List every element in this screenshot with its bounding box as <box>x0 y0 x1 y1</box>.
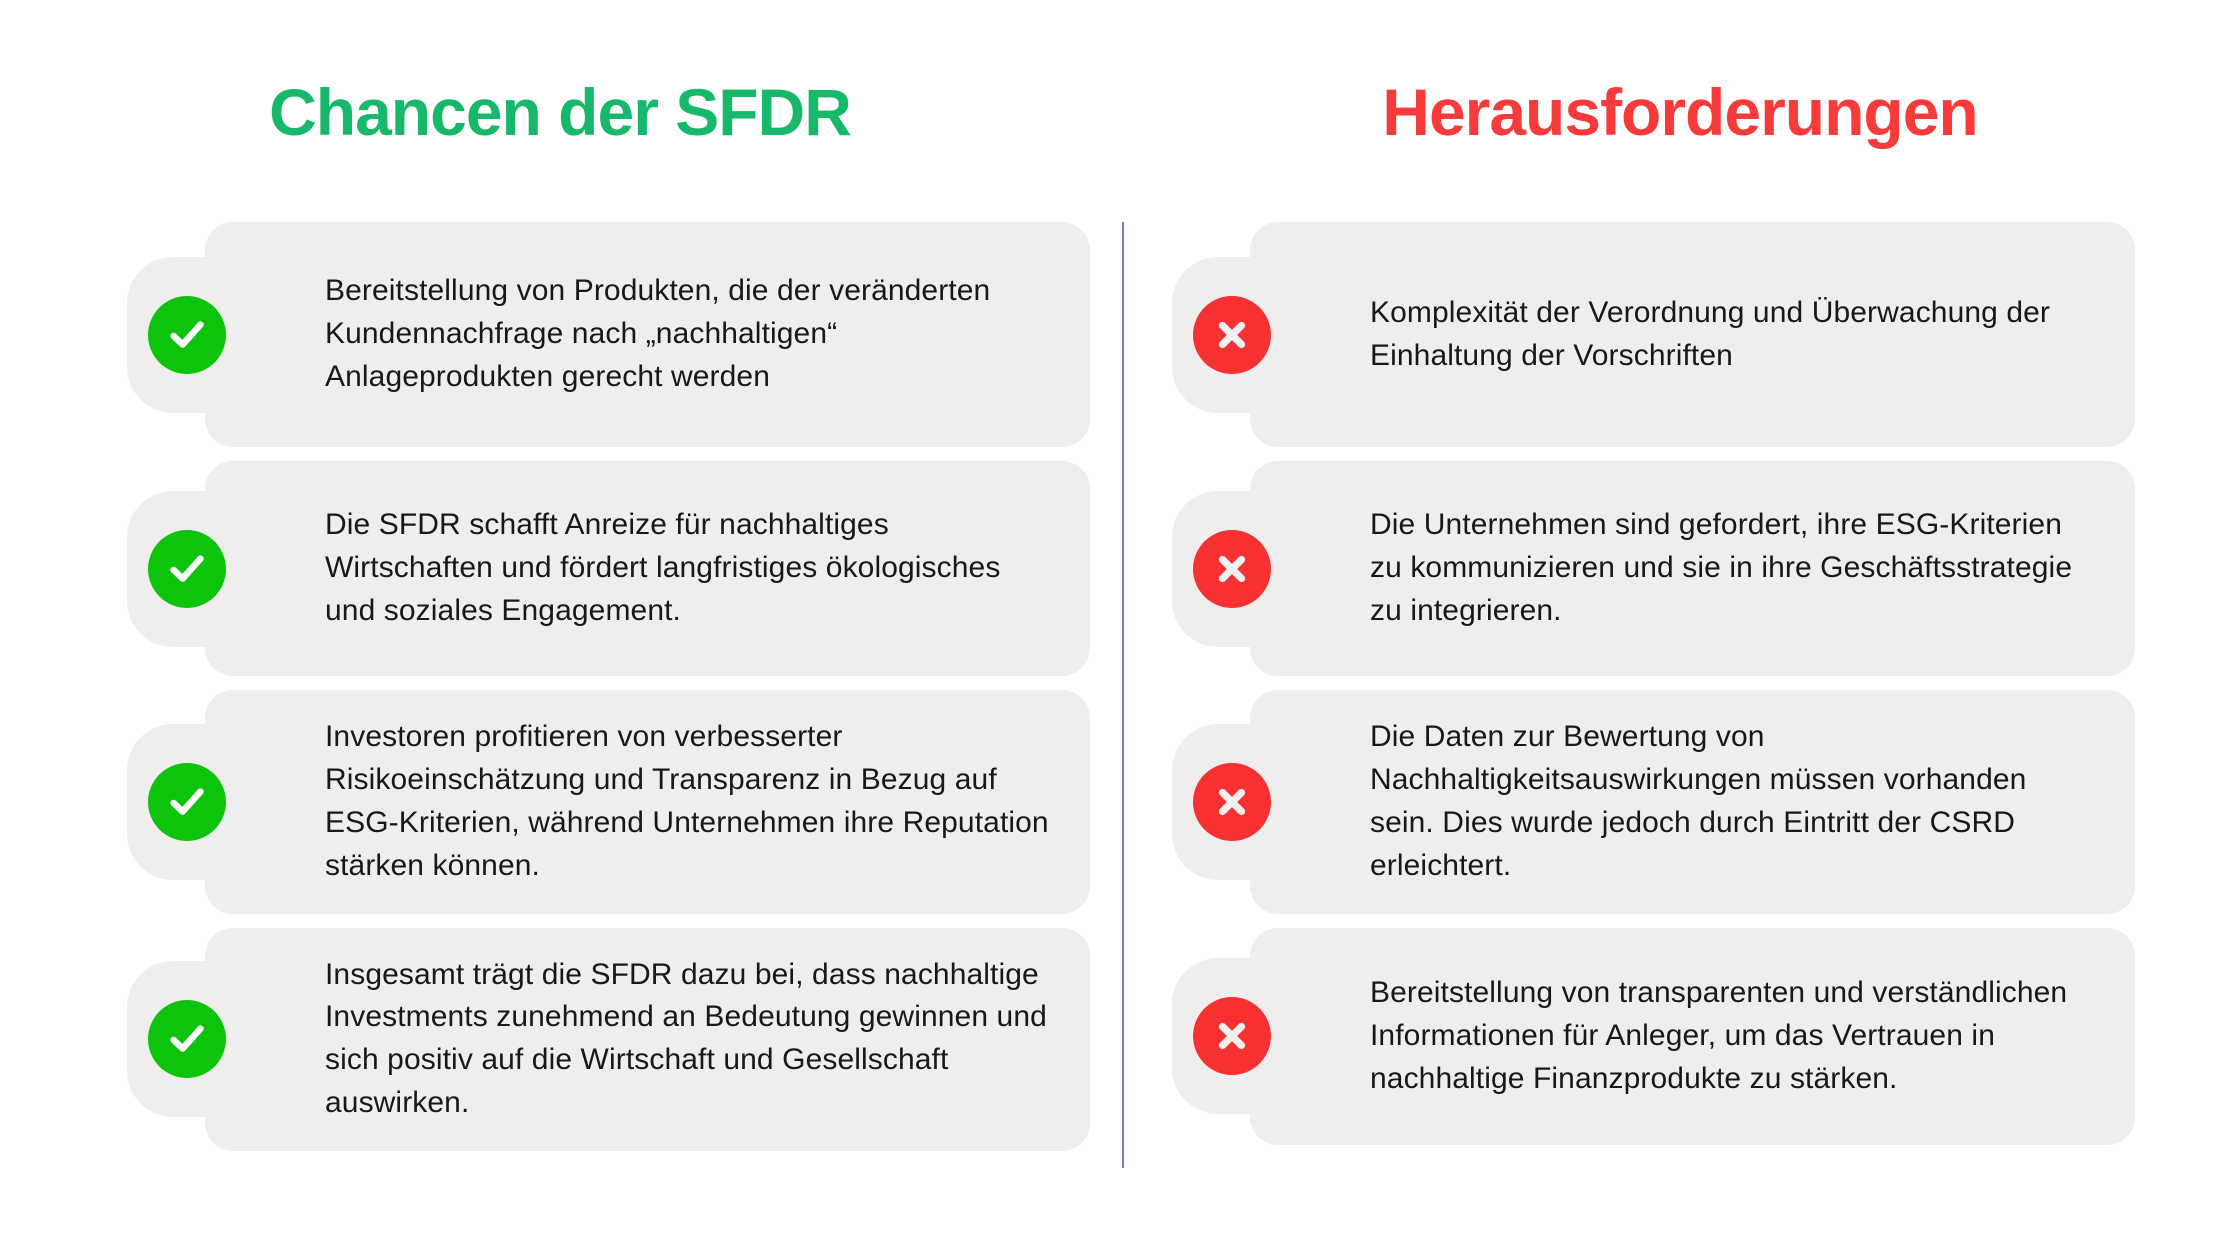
check-circle-icon <box>148 530 226 608</box>
list-item[interactable]: Bereitstellung von transparenten und ver… <box>1250 928 2135 1145</box>
list-item-text: Die SFDR schafft Anreize für nachhaltige… <box>205 478 1090 659</box>
list-item-text: Bereitstellung von transparenten und ver… <box>1250 946 2135 1127</box>
list-item[interactable]: Investoren profitieren von verbesserter … <box>205 690 1090 914</box>
column-title-chancen: Chancen der SFDR <box>0 78 1120 147</box>
list-item-text: Die Daten zur Bewertung von Nachhaltigke… <box>1250 690 2135 914</box>
list-item[interactable]: Komplexität der Verordnung und Überwachu… <box>1250 222 2135 447</box>
card-list-herausforderungen: Komplexität der Verordnung und Überwachu… <box>1120 222 2240 1159</box>
check-circle-icon <box>148 1000 226 1078</box>
icon-badge <box>127 491 283 647</box>
list-item[interactable]: Die Unternehmen sind gefordert, ihre ESG… <box>1250 461 2135 676</box>
list-item[interactable]: Insgesamt trägt die SFDR dazu bei, dass … <box>205 928 1090 1152</box>
list-item-text: Insgesamt trägt die SFDR dazu bei, dass … <box>205 928 1090 1152</box>
check-circle-icon <box>148 296 226 374</box>
icon-badge <box>1172 958 1328 1114</box>
icon-badge <box>1172 491 1328 647</box>
x-circle-icon <box>1193 997 1271 1075</box>
list-item[interactable]: Die SFDR schafft Anreize für nachhaltige… <box>205 461 1090 676</box>
icon-badge <box>127 961 283 1117</box>
icon-badge <box>127 257 283 413</box>
column-herausforderungen: Herausforderungen Komplexität der Verord… <box>1120 0 2240 1260</box>
x-circle-icon <box>1193 763 1271 841</box>
x-circle-icon <box>1193 530 1271 608</box>
list-item-text: Die Unternehmen sind gefordert, ihre ESG… <box>1250 478 2135 659</box>
icon-badge <box>127 724 283 880</box>
icon-badge <box>1172 724 1328 880</box>
column-chancen: Chancen der SFDR Bereitstellung von Prod… <box>0 0 1120 1260</box>
list-item-text: Komplexität der Verordnung und Überwachu… <box>1250 266 2135 404</box>
list-item-text: Investoren profitieren von verbesserter … <box>205 690 1090 914</box>
list-item-text: Bereitstellung von Produkten, die der ve… <box>205 244 1090 425</box>
list-item[interactable]: Die Daten zur Bewertung von Nachhaltigke… <box>1250 690 2135 914</box>
icon-badge <box>1172 257 1328 413</box>
list-item[interactable]: Bereitstellung von Produkten, die der ve… <box>205 222 1090 447</box>
column-title-herausforderungen: Herausforderungen <box>1120 78 2240 147</box>
comparison-board: Chancen der SFDR Bereitstellung von Prod… <box>0 0 2240 1260</box>
check-circle-icon <box>148 763 226 841</box>
x-circle-icon <box>1193 296 1271 374</box>
